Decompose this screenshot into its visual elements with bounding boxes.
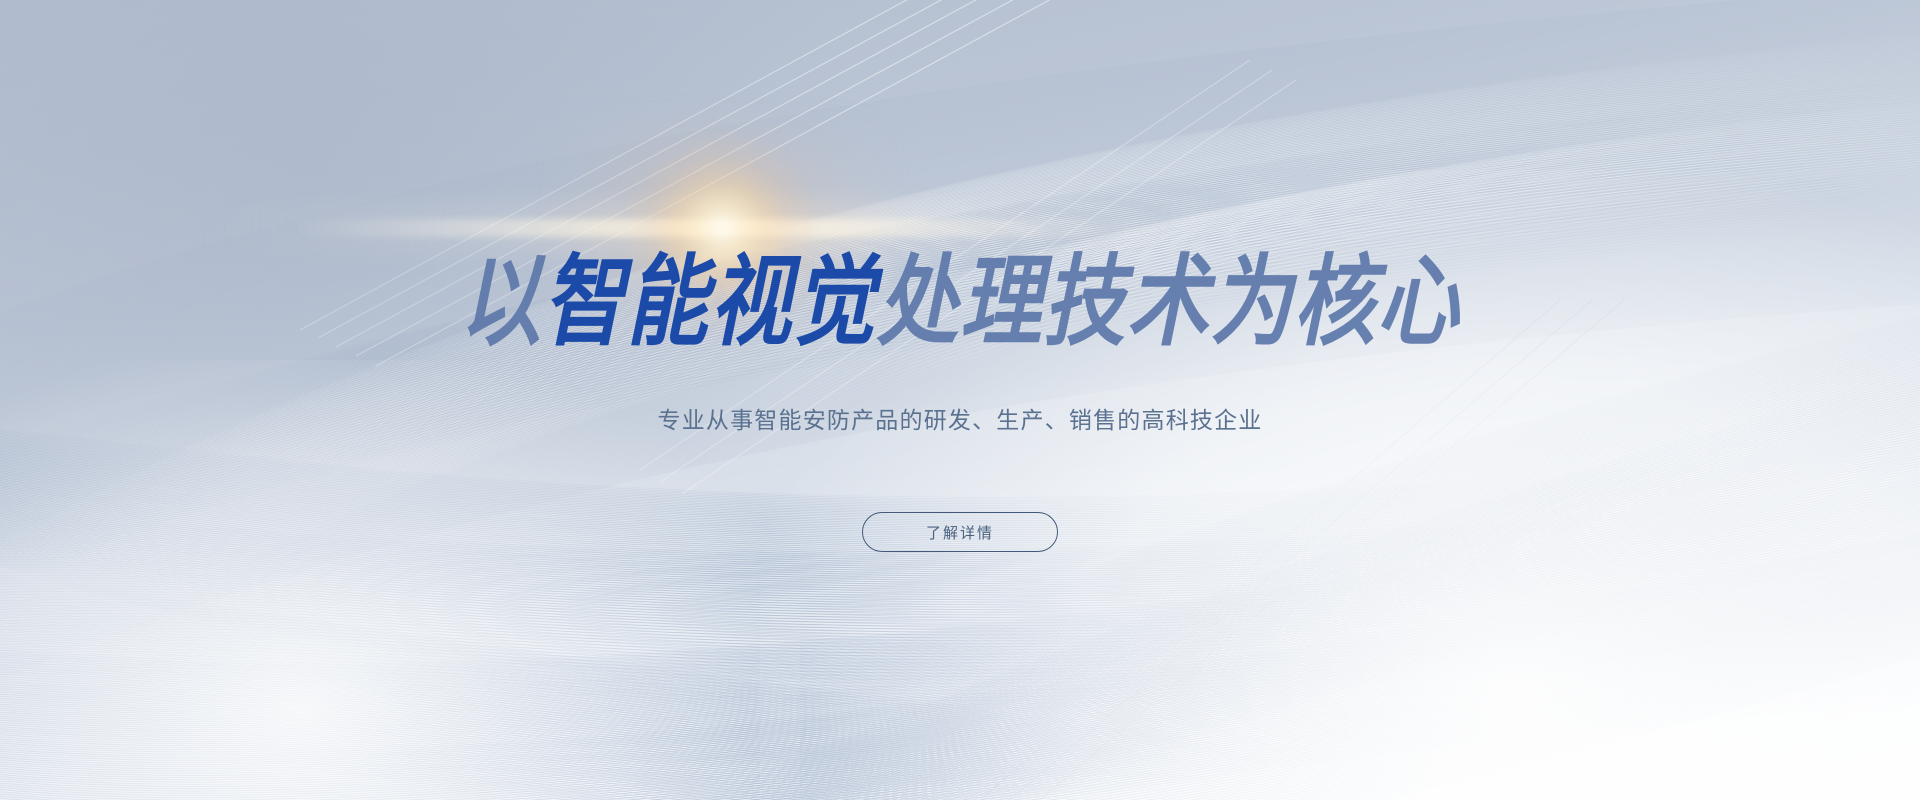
page-title: 以智能视觉处理技术为核心 [29,252,1891,351]
cta-container: 了解详情 [0,512,1920,552]
learn-more-button[interactable]: 了解详情 [862,512,1058,552]
background-wave-mesh [0,0,1920,800]
headline-segment-1: 以 [459,244,542,360]
headline-segment-3: 处理技术为核心 [877,244,1461,360]
hero-banner: 以智能视觉处理技术为核心 专业从事智能安防产品的研发、生产、销售的高科技企业 了… [0,0,1920,800]
hero-content: 以智能视觉处理技术为核心 专业从事智能安防产品的研发、生产、销售的高科技企业 了… [0,0,1920,800]
headline-segment-2: 智能视觉 [543,244,877,360]
page-subtitle: 专业从事智能安防产品的研发、生产、销售的高科技企业 [0,404,1920,439]
